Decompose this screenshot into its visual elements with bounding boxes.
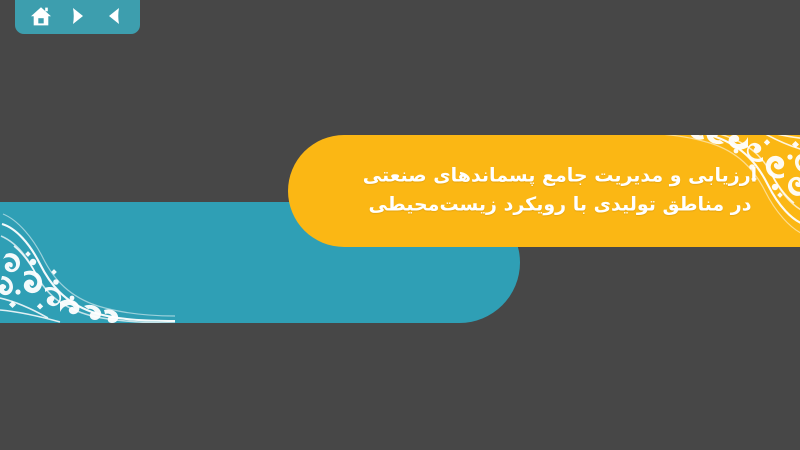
back-button[interactable] [99,2,129,30]
triangle-left-icon [106,7,122,25]
slide-title: ارزیابی و مدیریت جامع پسماندهای صنعتی در… [330,162,790,221]
title-line-1: ارزیابی و مدیریت جامع پسماندهای صنعتی [330,162,790,191]
arabesque-ornament-bottom-left [0,202,175,323]
triangle-right-icon [70,7,86,25]
title-line-2: در مناطق تولیدی با رویکرد زیست‌محیطی [330,191,790,220]
navigation-bar [15,0,140,34]
slide-canvas: ارزیابی و مدیریت جامع پسماندهای صنعتی در… [0,0,800,450]
forward-button[interactable] [63,2,93,30]
home-icon [30,6,52,27]
home-button[interactable] [26,2,56,30]
orange-title-panel: ارزیابی و مدیریت جامع پسماندهای صنعتی در… [288,135,800,247]
